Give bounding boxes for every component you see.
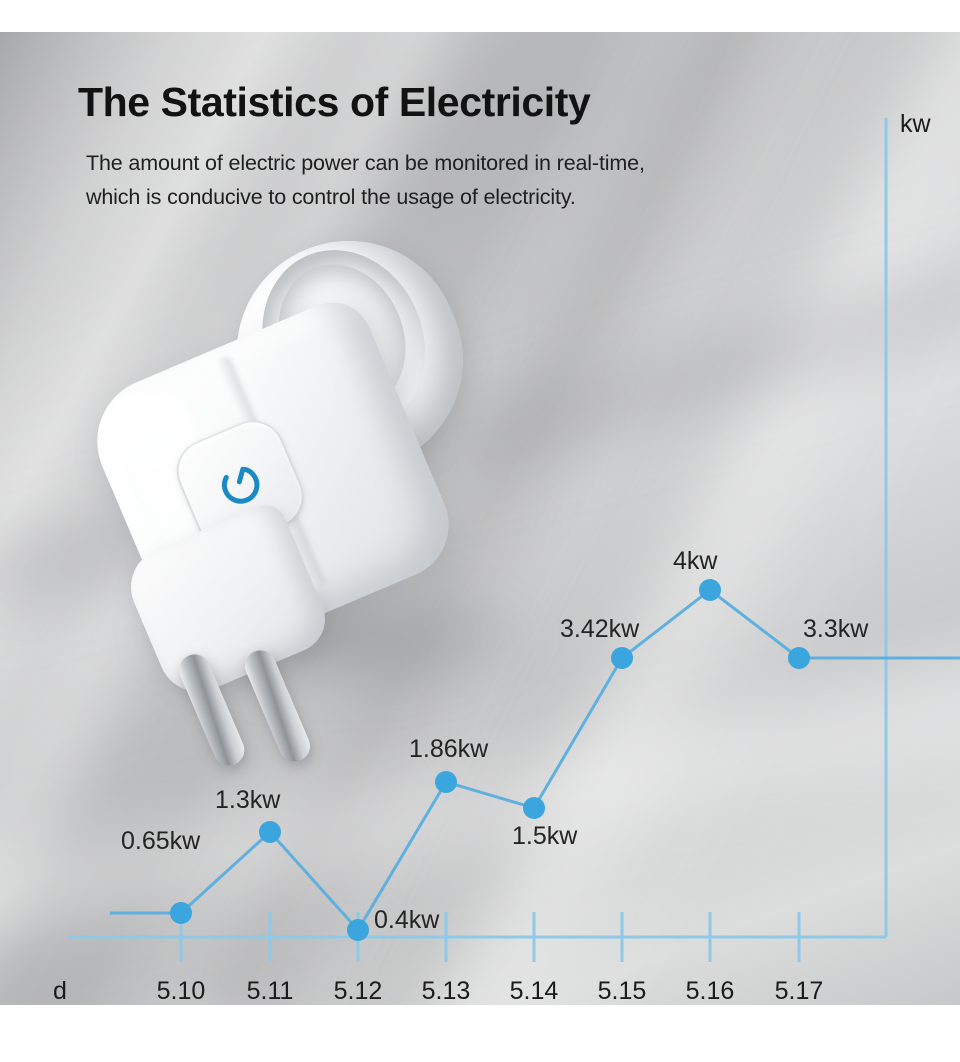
x-tick-label: 5.11 xyxy=(247,977,294,1005)
data-point-label: 4kw xyxy=(673,547,718,575)
x-tick-label: 5.15 xyxy=(598,977,647,1005)
x-tick-label: 5.10 xyxy=(157,977,206,1005)
series-points xyxy=(170,579,810,941)
data-point[interactable] xyxy=(788,647,810,669)
data-point-label: 0.4kw xyxy=(374,906,440,934)
x-axis-label: d xyxy=(53,977,67,1005)
x-tick-label: 5.16 xyxy=(686,977,735,1005)
data-point[interactable] xyxy=(170,902,192,924)
data-point-label: 1.86kw xyxy=(409,735,489,763)
data-point[interactable] xyxy=(611,647,633,669)
x-tick-label: 5.14 xyxy=(510,977,559,1005)
data-point[interactable] xyxy=(259,821,281,843)
chart-svg: 0.65kw 1.3kw 0.4kw 1.86kw 1.5kw 3.42kw 4… xyxy=(0,32,960,1005)
data-point-label: 1.5kw xyxy=(512,822,578,850)
data-point-label: 3.3kw xyxy=(803,615,869,643)
data-point-label: 0.65kw xyxy=(121,827,201,855)
x-tick-label: 5.17 xyxy=(775,977,824,1005)
data-point[interactable] xyxy=(523,797,545,819)
data-point[interactable] xyxy=(435,771,457,793)
data-point-label: 3.42kw xyxy=(560,615,640,643)
data-point-label: 1.3kw xyxy=(215,786,281,814)
data-point[interactable] xyxy=(347,919,369,941)
x-tick-label: 5.13 xyxy=(422,977,471,1005)
data-point[interactable] xyxy=(699,579,721,601)
x-tick-label: 5.12 xyxy=(334,977,383,1005)
series-line xyxy=(181,590,799,930)
y-axis-label: kw xyxy=(900,110,932,138)
electricity-line-chart: 0.65kw 1.3kw 0.4kw 1.86kw 1.5kw 3.42kw 4… xyxy=(0,32,960,1005)
page-root: The Statistics of Electricity The amount… xyxy=(0,0,960,1062)
